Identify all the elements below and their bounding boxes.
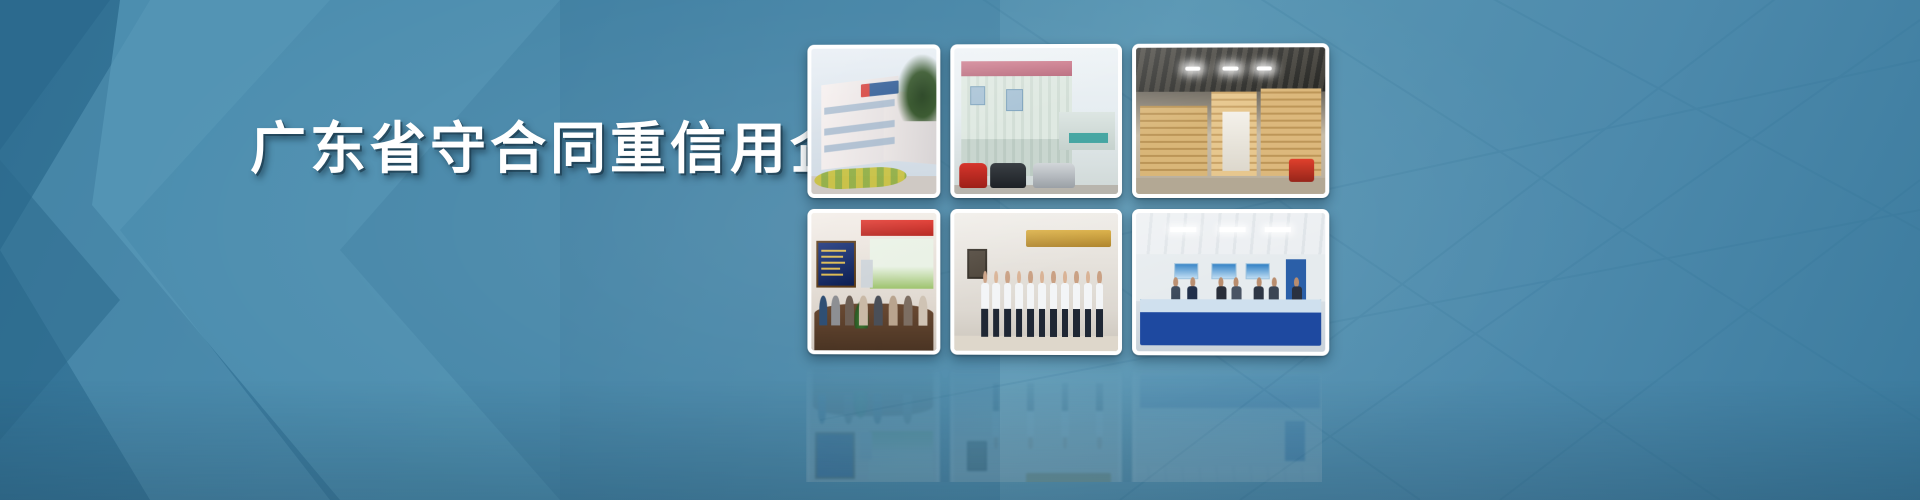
photo-plant-exterior[interactable] <box>950 44 1122 198</box>
photo-factory-building[interactable] <box>807 44 940 198</box>
company-name-sign <box>1026 230 1111 248</box>
photo-warehouse-storage[interactable] <box>1132 43 1329 198</box>
forklift <box>1289 159 1314 182</box>
team-group-photo-image <box>954 213 1118 351</box>
office-workspace-image <box>1136 213 1325 352</box>
photo-office-workspace[interactable] <box>1132 209 1329 356</box>
warehouse-storage-image <box>1136 47 1325 194</box>
factory-building-image <box>811 48 936 194</box>
red-event-banner <box>861 220 934 237</box>
presentation-board <box>816 240 856 287</box>
company-honor-banner: 广东省守合同重信用企业 <box>0 0 1920 500</box>
plant-exterior-image <box>954 48 1118 194</box>
photo-training-meeting[interactable] <box>807 209 940 355</box>
training-meeting-image <box>811 213 936 351</box>
photo-team-group[interactable] <box>950 209 1122 355</box>
photo-gallery-grid <box>807 43 1323 357</box>
